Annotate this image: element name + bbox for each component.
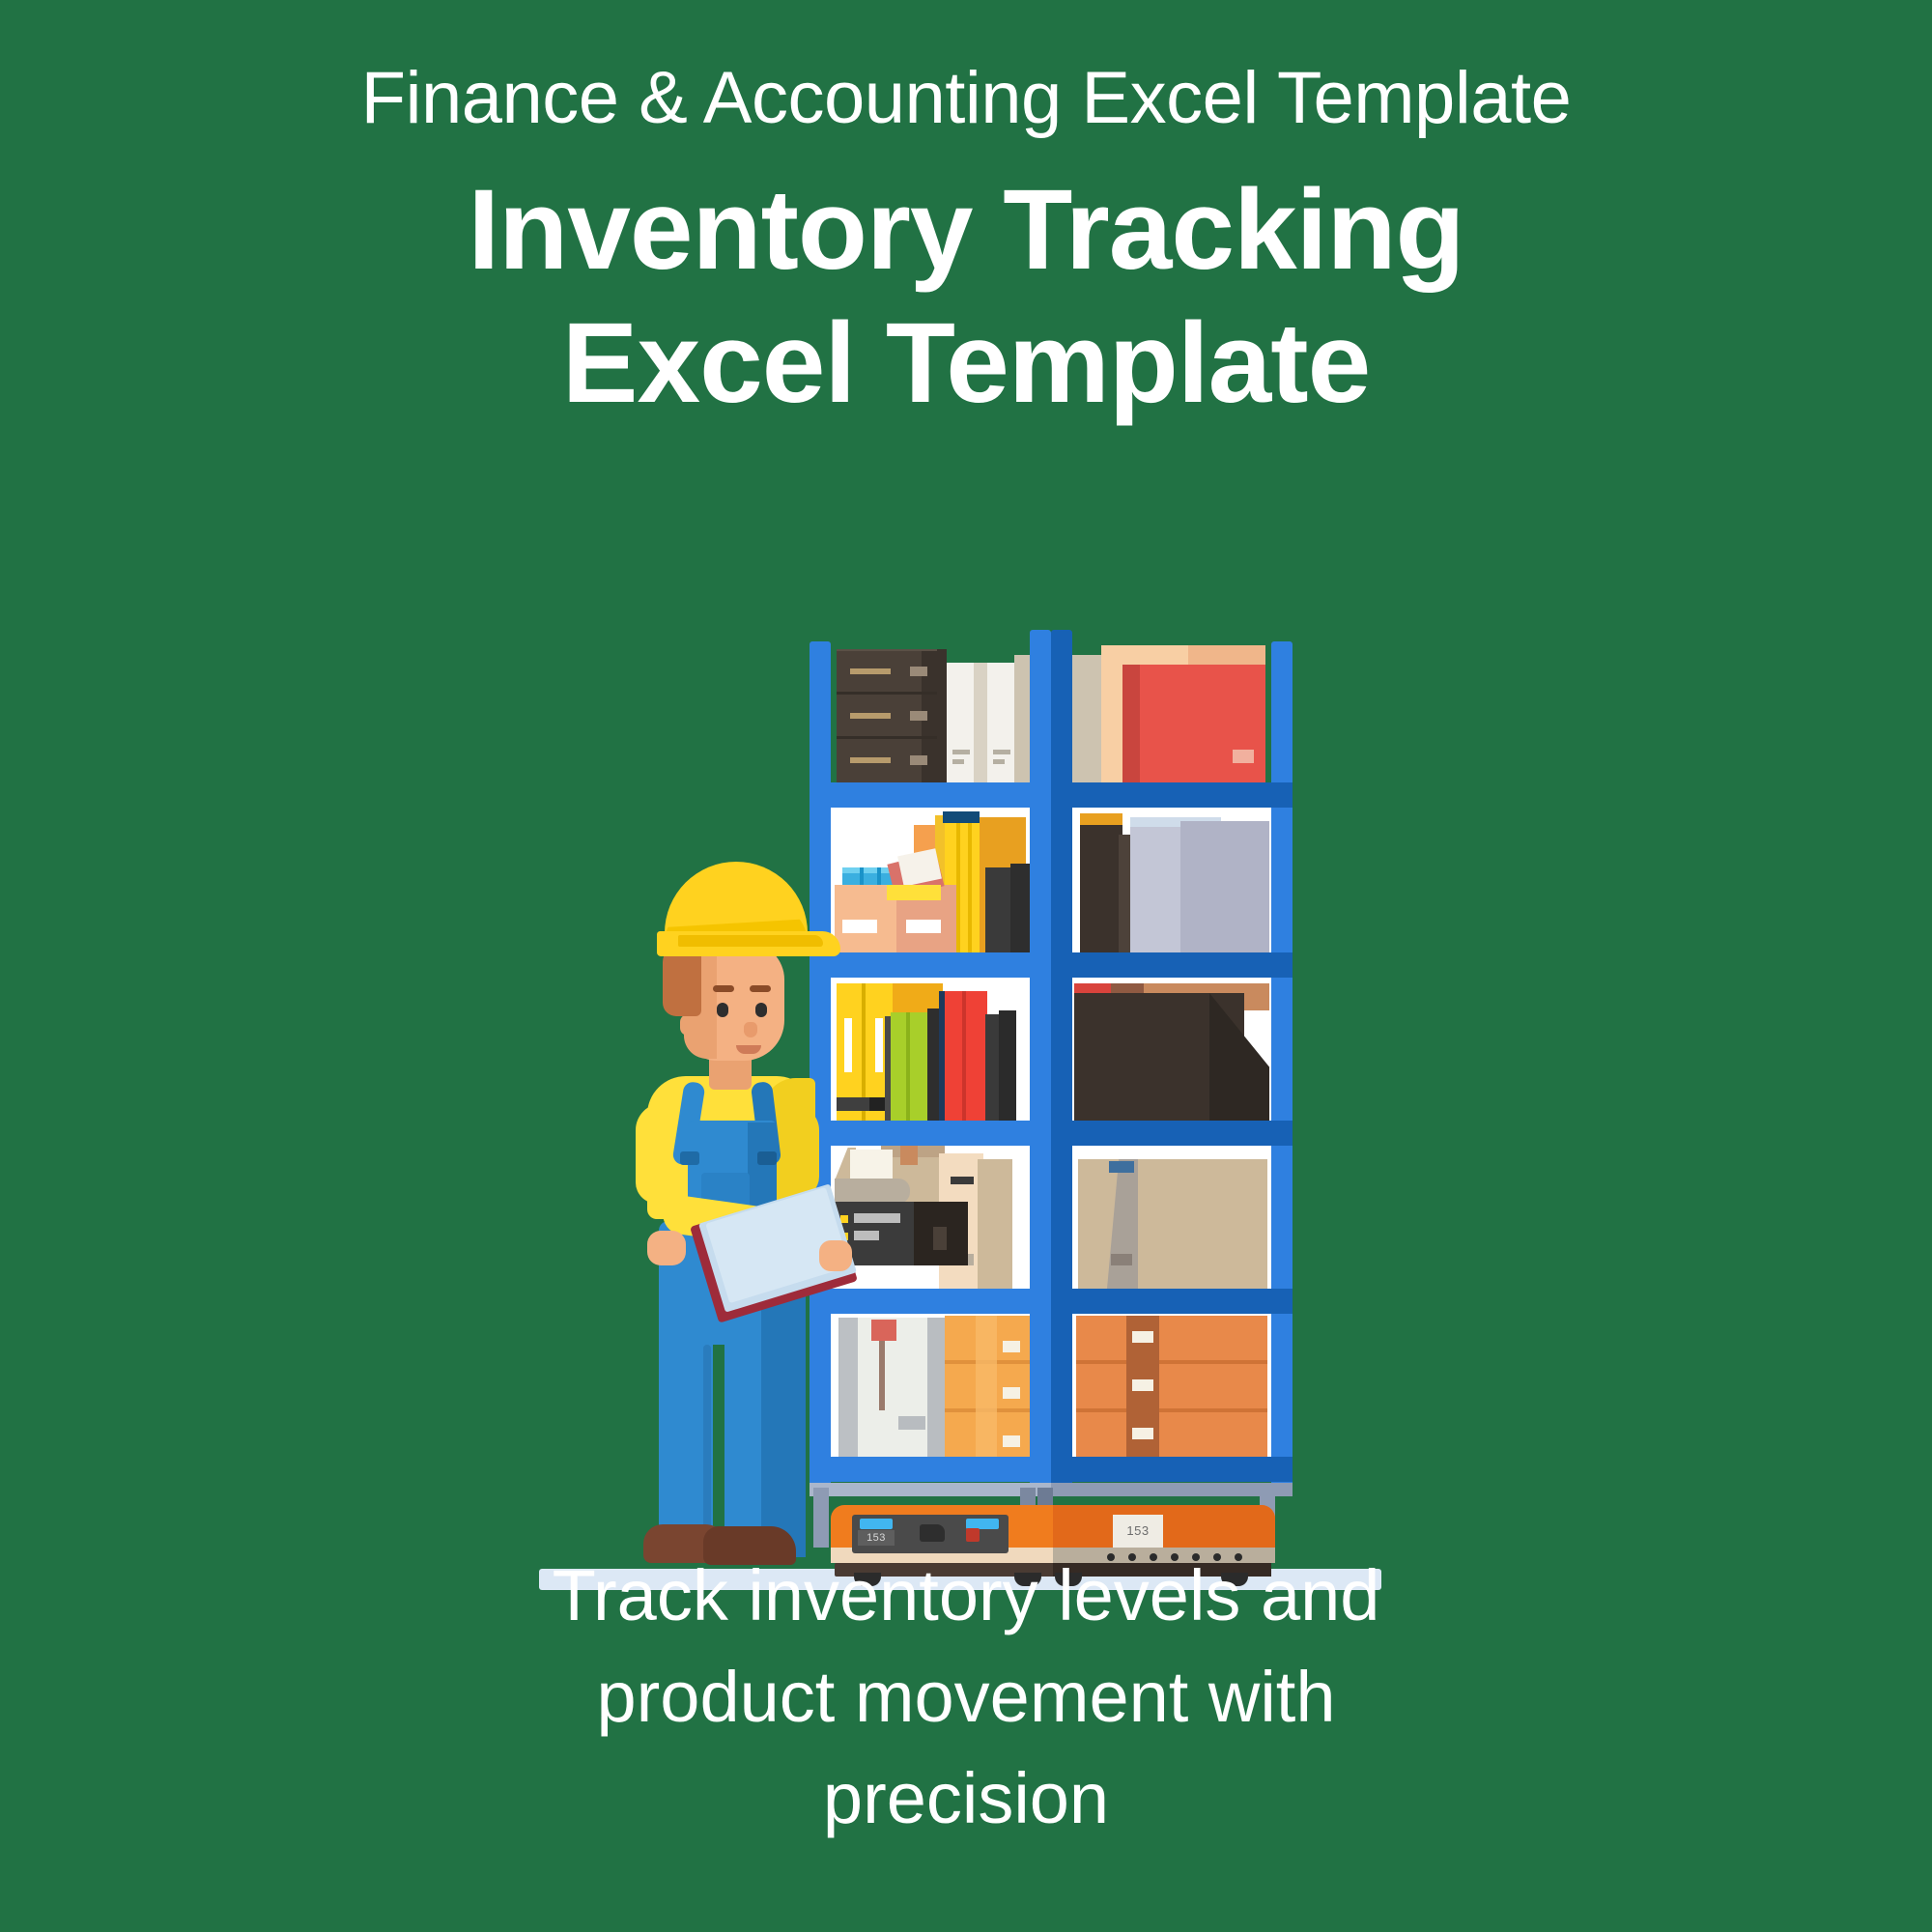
shelf-2-bay-right [1072, 808, 1271, 952]
category-eyebrow: Finance & Accounting Excel Template [116, 60, 1816, 138]
shelf-board-4 [810, 1289, 1293, 1314]
shelf-board-3 [810, 1121, 1293, 1146]
shelf-1-bay-left [831, 641, 1030, 782]
shelf-5-bay-right [1072, 1314, 1271, 1457]
worker-hand-left [647, 1231, 686, 1265]
agv-id-tag: 153 [1113, 1515, 1163, 1548]
rack-post-mid-b [1051, 630, 1072, 1492]
worker-hand-right [819, 1240, 852, 1271]
caption-text: Track inventory levels and product movem… [449, 1545, 1483, 1849]
shelf-board-1 [810, 782, 1293, 808]
shelf-1-bay-right [1072, 641, 1271, 782]
rack-post-right [1271, 641, 1293, 1492]
shelf-board-2 [810, 952, 1293, 978]
shelf-board-5 [810, 1457, 1293, 1482]
page-title: Inventory Tracking Excel Template [372, 163, 1560, 430]
caption-block: Track inventory levels and product movem… [0, 1545, 1932, 1849]
shelving-rack [810, 609, 1293, 1538]
header-text-block: Finance & Accounting Excel Template Inve… [0, 0, 1932, 430]
shelf-4-bay-right [1072, 1146, 1271, 1289]
poster-canvas: Finance & Accounting Excel Template Inve… [0, 0, 1932, 1932]
warehouse-worker [620, 862, 871, 1544]
rack-post-mid-a [1030, 630, 1051, 1492]
warehouse-illustration: 153 153 [531, 609, 1401, 1604]
shelf-3-bay-right [1072, 978, 1271, 1121]
